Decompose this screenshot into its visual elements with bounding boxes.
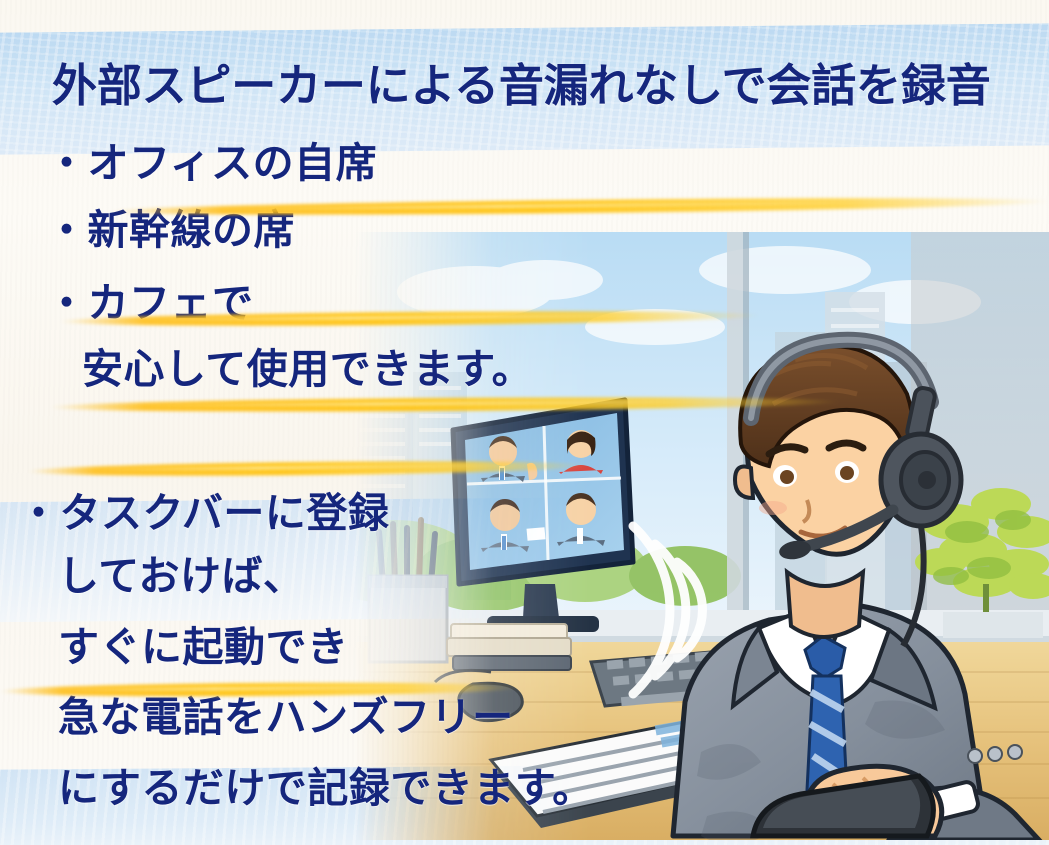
bullet-item-4: 安心して使用できます。 [82, 349, 533, 390]
paragraph-marker-1: ・ [18, 489, 60, 537]
page-title: 外部スピーカーによる音漏れなしで会話を録音 [52, 63, 991, 108]
paragraph-line-4: 急な電話をハンズフリー [58, 697, 514, 738]
bullet-item-1: ・オフィスの自席 [46, 143, 377, 184]
paragraph-line-2: しておけば、 [58, 556, 305, 597]
paragraph-label-1: タスクバーに登録 [60, 489, 390, 537]
bullet-label-1: オフィスの自席 [88, 139, 378, 187]
pen-cup [369, 520, 447, 662]
bullet-marker-2: ・ [46, 206, 88, 254]
stacked-books [447, 624, 571, 670]
paragraph-line-3: すぐに起動でき [58, 627, 348, 668]
bullet-item-2: ・新幹線の席 [46, 210, 295, 251]
bullet-marker-1: ・ [46, 139, 88, 187]
paragraph-line-1: ・タスクバーに登録 [18, 493, 389, 534]
paragraph-line-5: にするだけで記録できます。 [58, 768, 594, 809]
poster-canvas: 外部スピーカーによる音漏れなしで会話を録音 ・オフィスの自席 ・新幹線の席 ・カ… [0, 0, 1049, 845]
